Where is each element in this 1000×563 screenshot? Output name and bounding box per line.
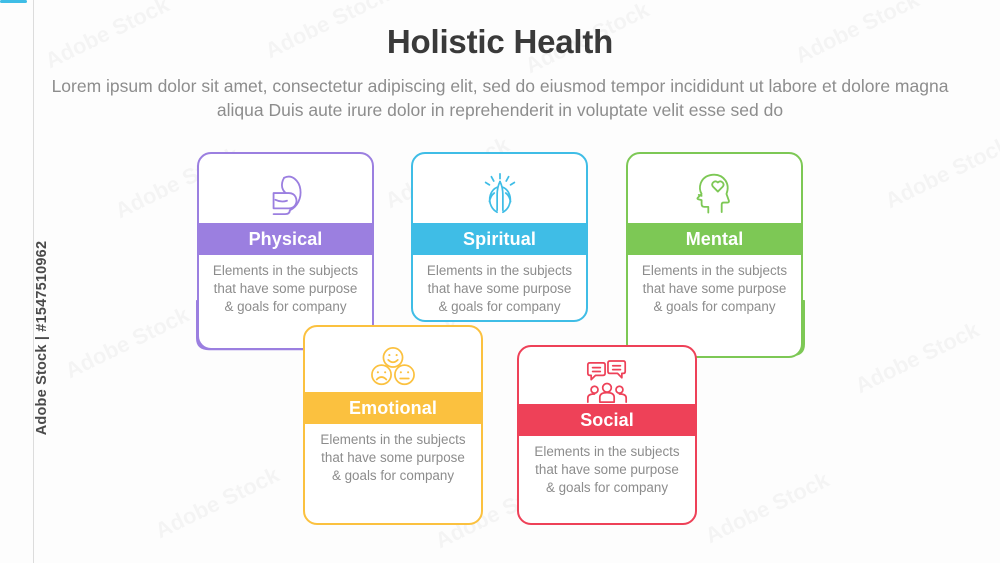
card-label-spiritual: Spiritual (463, 229, 536, 250)
page-title: Holistic Health (0, 22, 1000, 62)
card-title-bar-emotional: Emotional (305, 392, 481, 424)
card-description-line: Elements in the subjects (311, 431, 475, 449)
card-description-line: that have some purpose (419, 280, 580, 298)
card-description-line: & goals for company (634, 298, 795, 316)
card-label-mental: Mental (686, 229, 744, 250)
adobe-stock-watermark: Adobe Stock | #1547510962 (34, 208, 50, 468)
card-description-line: & goals for company (311, 467, 475, 485)
card-description-emotional: Elements in the subjects that have some … (305, 431, 481, 485)
card-description-physical: Elements in the subjects that have some … (199, 262, 372, 316)
card-description-line: Elements in the subjects (525, 443, 689, 461)
card-description-line: & goals for company (205, 298, 366, 316)
card-description-spiritual: Elements in the subjects that have some … (413, 262, 586, 316)
stock-watermark-tile: Adobe Stock (61, 302, 193, 384)
card-description-line: that have some purpose (205, 280, 366, 298)
stock-watermark-tile: Adobe Stock (881, 132, 1000, 214)
card-description-line: that have some purpose (525, 461, 689, 479)
card-description-line: that have some purpose (311, 449, 475, 467)
emoji-faces-icon (305, 341, 481, 395)
card-emotional[interactable]: Emotional Elements in the subjects that … (303, 325, 483, 525)
people-speech-bubbles-icon (519, 357, 695, 409)
card-title-bar-social: Social (519, 404, 695, 436)
card-label-social: Social (580, 410, 634, 431)
card-description-line: Elements in the subjects (634, 262, 795, 280)
card-title-bar-spiritual: Spiritual (413, 223, 586, 255)
card-description-social: Elements in the subjects that have some … (519, 443, 695, 497)
card-description-line: Elements in the subjects (419, 262, 580, 280)
card-title-bar-mental: Mental (628, 223, 801, 255)
card-mental[interactable]: Mental Elements in the subjects that hav… (626, 152, 803, 358)
card-description-line: Elements in the subjects (205, 262, 366, 280)
card-description-mental: Elements in the subjects that have some … (628, 262, 801, 316)
card-spiritual[interactable]: Spiritual Elements in the subjects that … (411, 152, 588, 322)
head-heart-icon (628, 166, 801, 220)
card-description-line: & goals for company (419, 298, 580, 316)
flexed-bicep-icon (199, 168, 372, 222)
card-description-line: that have some purpose (634, 280, 795, 298)
header: Holistic Health Lorem ipsum dolor sit am… (0, 22, 1000, 123)
card-label-emotional: Emotional (349, 398, 437, 419)
card-label-physical: Physical (249, 229, 323, 250)
card-physical[interactable]: Physical Elements in the subjects that h… (197, 152, 374, 350)
stock-watermark-tile: Adobe Stock (151, 462, 283, 544)
praying-hands-icon (413, 166, 586, 220)
page-subtitle: Lorem ipsum dolor sit amet, consectetur … (40, 74, 960, 124)
infographic-canvas: Adobe Stock Adobe Stock Adobe Stock Adob… (0, 0, 1000, 563)
stock-watermark-tile: Adobe Stock (701, 467, 833, 549)
connector-emotional-to-social (0, 0, 27, 3)
stock-watermark-tile: Adobe Stock (851, 317, 983, 399)
card-description-line: & goals for company (525, 479, 689, 497)
card-social[interactable]: Social Elements in the subjects that hav… (517, 345, 697, 525)
card-title-bar-physical: Physical (199, 223, 372, 255)
